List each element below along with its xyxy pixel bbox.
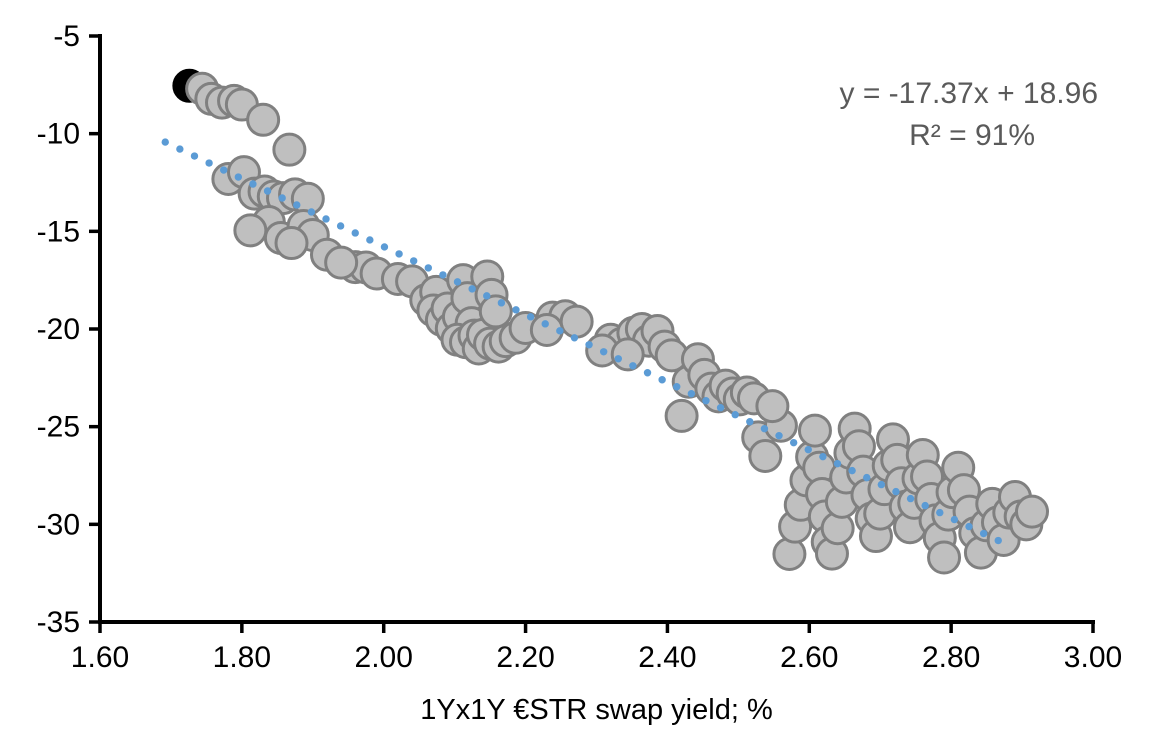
x-axis-title: 1Yx1Y €STR swap yield; %	[420, 694, 772, 726]
data-point	[750, 440, 781, 471]
trendline-dot	[235, 173, 242, 180]
trendline-dot	[644, 369, 651, 376]
trendline-dot	[615, 355, 622, 362]
trendline-dot	[936, 509, 943, 516]
data-point	[326, 247, 357, 278]
trendline-dot	[819, 453, 826, 460]
data-point	[799, 415, 830, 446]
trendline-dot	[951, 516, 958, 523]
trendline-dot	[878, 481, 885, 488]
x-axis-tick-label: 1.80	[213, 641, 271, 674]
trendline-dot	[220, 166, 227, 173]
trendline-dot	[308, 208, 315, 215]
trendline-dot	[381, 243, 388, 250]
trendline-dot	[921, 502, 928, 509]
data-point	[929, 542, 960, 573]
trendline-dot	[425, 264, 432, 271]
x-axis-tick-label: 2.80	[922, 641, 980, 674]
trendline-dot	[995, 537, 1002, 544]
chart-canvas: -5-10-15-20-25-30-351.601.802.002.202.40…	[0, 0, 1152, 745]
trendline-dot	[980, 530, 987, 537]
data-point	[276, 228, 307, 259]
trendline-dot	[834, 460, 841, 467]
trendline-dot	[468, 285, 475, 292]
trendline-dot	[410, 257, 417, 264]
trendline-dot	[264, 187, 271, 194]
data-point	[666, 400, 697, 431]
data-point	[248, 104, 279, 135]
data-point	[774, 539, 805, 570]
trendline-dot	[629, 362, 636, 369]
trendline-dot	[746, 418, 753, 425]
trendline-dot	[673, 383, 680, 390]
trendline-dot	[600, 348, 607, 355]
data-point	[274, 134, 305, 165]
x-axis-tick-label: 2.40	[638, 641, 696, 674]
trendline-dot	[571, 334, 578, 341]
x-axis-tick-label: 2.00	[355, 641, 413, 674]
x-axis-tick-label: 1.60	[71, 641, 129, 674]
y-axis-tick-label: -10	[37, 118, 80, 151]
trendline-dot	[717, 404, 724, 411]
trendline-dot	[278, 194, 285, 201]
data-point	[757, 391, 788, 422]
trendline-dot	[702, 397, 709, 404]
trendline-dot	[191, 152, 198, 159]
trendline-dot	[965, 523, 972, 530]
data-point	[561, 306, 592, 337]
trendline-dot	[352, 229, 359, 236]
trendline-dot	[556, 327, 563, 334]
y-axis-tick-label: -5	[53, 20, 80, 53]
trendline-dot	[512, 306, 519, 313]
data-point	[292, 183, 323, 214]
trendline-dot	[732, 411, 739, 418]
trendline-dot	[498, 299, 505, 306]
x-axis-tick-label: 3.00	[1064, 641, 1122, 674]
trendline-dot	[527, 313, 534, 320]
trendline-dot	[892, 488, 899, 495]
trendline-dot	[249, 180, 256, 187]
scatter-chart: -5-10-15-20-25-30-351.601.802.002.202.40…	[0, 0, 1152, 745]
trendline-dot	[483, 292, 490, 299]
y-axis-tick-label: -15	[37, 215, 80, 248]
trendline-equation-label: y = -17.37x + 18.96	[839, 77, 1098, 110]
trendline-dot	[805, 446, 812, 453]
trendline-dot	[293, 201, 300, 208]
trendline-dot	[585, 341, 592, 348]
y-axis-tick-label: -35	[37, 606, 80, 639]
data-point	[235, 215, 266, 246]
trendline-dot	[658, 376, 665, 383]
x-axis-tick-label: 2.20	[496, 641, 554, 674]
trendline-dot	[761, 425, 768, 432]
trendline-dot	[176, 145, 183, 152]
trendline-dot	[395, 250, 402, 257]
trendline-dot	[337, 222, 344, 229]
trendline-dot	[907, 495, 914, 502]
data-point	[612, 339, 643, 370]
trendline-dot	[162, 138, 169, 145]
trendline-dot	[688, 390, 695, 397]
trendline-dot	[205, 159, 212, 166]
y-axis-tick-label: -25	[37, 411, 80, 444]
trendline-dot	[848, 467, 855, 474]
y-axis-tick-label: -30	[37, 508, 80, 541]
trendline-dot	[775, 432, 782, 439]
trendline-dot	[863, 474, 870, 481]
trendline-dot	[439, 271, 446, 278]
x-axis-tick-label: 2.60	[780, 641, 838, 674]
trendline-dot	[322, 215, 329, 222]
trendline-dot	[366, 236, 373, 243]
data-point	[480, 296, 511, 327]
y-axis-tick-label: -20	[37, 313, 80, 346]
trendline-dot	[790, 439, 797, 446]
r-squared-label: R² = 91%	[909, 119, 1035, 152]
trendline-dot	[454, 278, 461, 285]
data-point	[1017, 496, 1048, 527]
trendline-dot	[542, 320, 549, 327]
